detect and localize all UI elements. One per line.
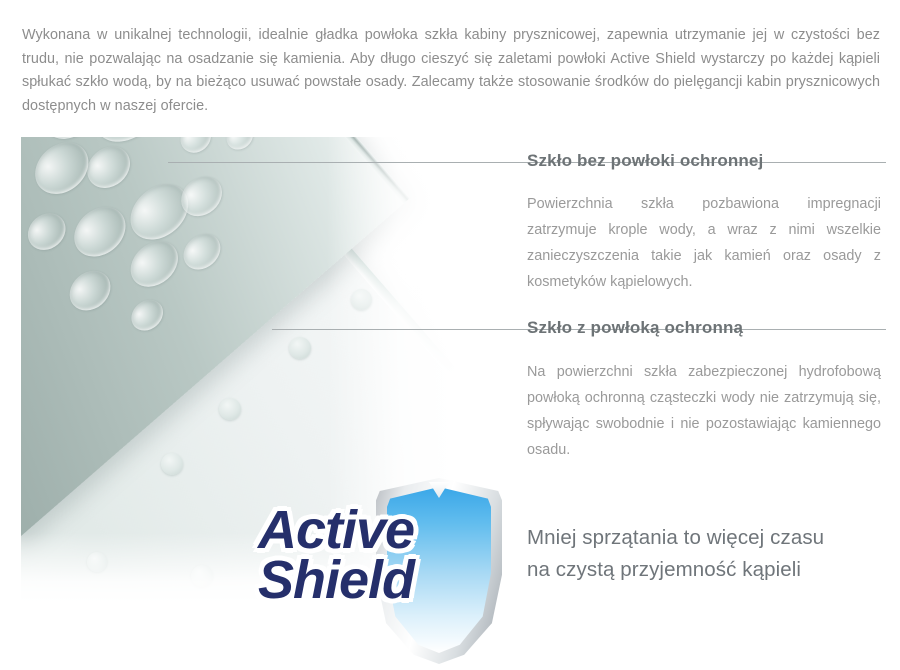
water-droplet — [176, 226, 227, 276]
intro-paragraph: Wykonana w unikalnej technologii, idealn… — [22, 24, 880, 118]
water-droplet — [122, 232, 187, 296]
glass-dot — [219, 398, 241, 420]
active-shield-infographic: { "intro": { "text": "Wykonana w unikaln… — [0, 0, 900, 670]
glass-dot — [289, 337, 311, 359]
logo-line-active: Active — [258, 506, 468, 556]
water-droplet — [174, 137, 217, 159]
logo-wordmark: Active Shield — [258, 506, 468, 605]
tagline-line-2: na czystą przyjemność kąpieli — [527, 554, 887, 586]
water-droplet — [64, 197, 135, 267]
section-title-uncoated: Szkło bez powłoki ochronnej — [527, 150, 763, 172]
section-body-coated: Na powierzchni szkła zabezpieczonej hydr… — [527, 359, 881, 463]
water-droplet — [21, 206, 73, 258]
water-droplet — [62, 263, 119, 319]
water-droplet — [125, 293, 169, 336]
logo-line-shield: Shield — [258, 556, 468, 606]
water-droplet — [21, 137, 26, 152]
tagline: Mniej sprzątania to więcej czasu na czys… — [527, 522, 887, 586]
active-shield-logo: Active Shield — [258, 468, 506, 670]
tagline-line-1: Mniej sprzątania to więcej czasu — [527, 522, 887, 554]
section-title-coated: Szkło z powłoką ochronną — [527, 317, 743, 339]
water-droplet — [221, 137, 258, 155]
glass-dot — [161, 453, 183, 475]
section-body-uncoated: Powierzchnia szkła pozbawiona impregnacj… — [527, 191, 881, 295]
